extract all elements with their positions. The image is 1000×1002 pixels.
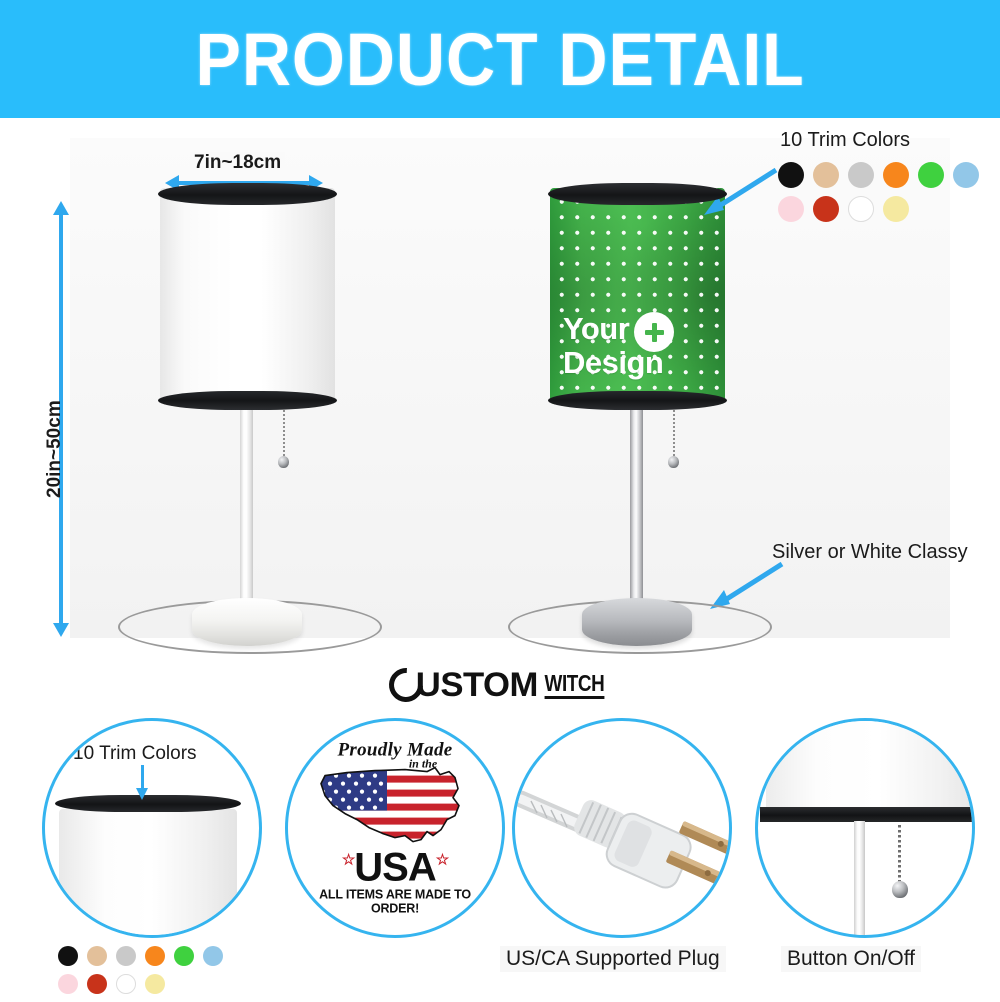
usa-badge: Proudly Made in the [302,741,488,916]
trim-color-swatch-black[interactable] [58,946,78,966]
star-icon: ☆ [436,852,448,869]
usa-map-flag-icon [309,762,481,854]
shade-closeup [59,809,237,938]
usa-badge-line-3: ☆USA☆ [302,850,488,887]
lamp-pole [630,406,643,618]
shade-trim-bottom [158,391,337,410]
trim-color-swatch-tan[interactable] [87,946,107,966]
trim-colors-title: 10 Trim Colors [780,129,910,152]
shade-surface [160,188,335,404]
plug-icon [515,721,729,935]
trim-color-swatch-tan[interactable] [813,162,839,188]
feature-circle: Proudly Made in the [285,718,505,938]
base-finish-label: Silver or White Classy [772,541,968,564]
page-header-banner: PRODUCT DETAIL [0,0,1000,118]
logo-secondary-text: WITCH [544,671,604,698]
feature-trim-colors: 10 Trim Colors [42,718,262,1000]
feature-circle: 10 Trim Colors [42,718,262,938]
trim-color-swatch-light-blue[interactable] [203,946,223,966]
trim-color-swatch-pink[interactable] [58,974,78,994]
trim-color-swatch-green[interactable] [918,162,944,188]
lamp-base [582,598,692,646]
trim-color-swatch-silver[interactable] [116,946,136,966]
feature-caption: Button On/Off [781,946,921,972]
lamp-white-blank [120,188,380,638]
lamp-base [192,598,302,646]
feature-highlights: 10 Trim Colors Proudly Made in the [0,710,1000,1000]
feature-button-on-off: Button On/Off [755,718,995,1000]
shade-trim-top [158,183,337,205]
feature-circle [755,718,975,938]
trim-color-swatch-silver[interactable] [848,162,874,188]
shade-trim-bottom [548,391,727,410]
feature-circle [512,718,732,938]
add-design-plus-icon[interactable] [634,312,674,352]
trim-color-swatch-rust-red[interactable] [87,974,107,994]
trim-colors-title: 10 Trim Colors [73,743,197,765]
lamp-pole-closeup [854,821,865,938]
lamp-shade: Your Design [550,188,725,404]
height-dimension-label: 20in~50cm [44,400,66,498]
feature-made-in-usa: Proudly Made in the [285,718,505,1000]
pull-chain[interactable] [898,825,901,883]
pull-chain[interactable] [673,410,675,460]
trim-color-swatch-white[interactable] [116,974,136,994]
trim-color-swatch-list [778,162,1000,230]
brand-logo-row: USTOM WITCH [0,660,1000,710]
feature-caption: US/CA Supported Plug [500,946,726,972]
logo-primary-text: USTOM [416,666,538,705]
trim-color-swatch-light-blue[interactable] [953,162,979,188]
trim-colors-arrow-icon [141,765,144,789]
shade-trim-closeup [55,795,241,812]
lamp-shade [160,188,335,404]
trim-color-swatch-yellow[interactable] [883,196,909,222]
page-title: PRODUCT DETAIL [195,17,804,102]
trim-color-swatch-yellow[interactable] [145,974,165,994]
brand-logo: USTOM WITCH [389,666,611,705]
usa-badge-line-4: ALL ITEMS ARE MADE TO ORDER! [302,887,488,915]
trim-color-swatch-list [58,946,254,1002]
star-icon: ☆ [342,852,354,869]
trim-color-swatch-green[interactable] [174,946,194,966]
trim-color-swatch-orange[interactable] [145,946,165,966]
lamp-pole [240,406,253,618]
trim-color-swatch-white[interactable] [848,196,874,222]
shade-surface: Your Design [550,188,725,404]
product-stage: 20in~50cm 7in~18cm [0,118,1000,658]
trim-color-swatch-black[interactable] [778,162,804,188]
design-line-2: Design [563,348,663,378]
shade-trim-top [548,183,727,205]
pull-chain-ball[interactable] [668,456,679,468]
trim-color-swatch-rust-red[interactable] [813,196,839,222]
design-line-1: Your [563,314,629,344]
pull-chain[interactable] [283,410,285,460]
trim-color-swatch-orange[interactable] [883,162,909,188]
pull-chain-ball[interactable] [278,456,289,468]
trim-color-swatch-pink[interactable] [778,196,804,222]
pull-chain-ball[interactable] [892,881,908,898]
shade-closeup [766,718,975,811]
width-dimension-label: 7in~18cm [190,152,285,174]
shade-trim-closeup [760,807,975,822]
feature-plug: US/CA Supported Plug [512,718,772,1000]
